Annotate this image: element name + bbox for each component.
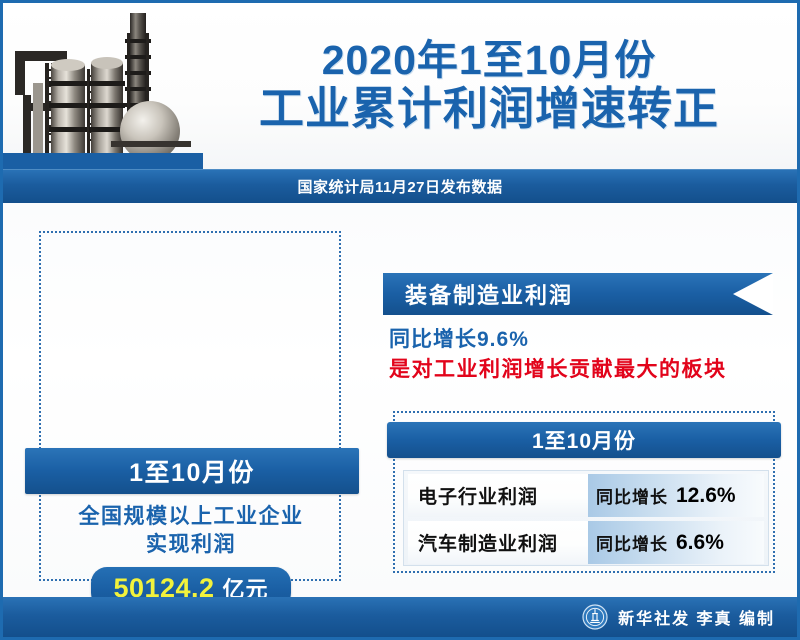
credit-text: 新华社发 李真 编制 — [618, 605, 775, 629]
industry-table-card: 1至10月份 电子行业利润 同比增长 12.6% 汽车制造业利润 — [393, 411, 775, 573]
xinhua-logo-icon — [582, 604, 608, 630]
table-cell-value: 同比增长 12.6% — [588, 474, 764, 517]
body-area: 1至10月份 全国规模以上工业企业 实现利润 50124.2 亿元 同比增长 0… — [3, 203, 797, 599]
infographic-poster: 2020年1至10月份 工业累计利润增速转正 国家统计局11月27日发布数据 1… — [0, 0, 800, 640]
title-line-1: 2020年1至10月份 — [199, 39, 779, 82]
table-cell-category: 汽车制造业利润 — [408, 521, 588, 564]
row-0-metric: 同比增长 — [596, 483, 668, 508]
page-title: 2020年1至10月份 工业累计利润增速转正 — [199, 39, 779, 133]
left-banner-label: 1至10月份 — [129, 453, 255, 489]
table-body: 电子行业利润 同比增长 12.6% 汽车制造业利润 同比增长 6.6% — [403, 470, 769, 566]
subtitle-bar: 国家统计局11月27日发布数据 — [3, 169, 797, 203]
table-row: 汽车制造业利润 同比增长 6.6% — [408, 521, 764, 564]
right-panel: 装备制造业利润 同比增长9.6% 是对工业利润增长贡献最大的板块 — [383, 273, 775, 384]
row-1-value: 6.6% — [676, 531, 724, 555]
table-cell-category: 电子行业利润 — [408, 474, 588, 517]
table-row: 电子行业利润 同比增长 12.6% — [408, 474, 764, 517]
equipment-emphasis-text: 是对工业利润增长贡献最大的板块 — [389, 356, 775, 383]
row-1-metric: 同比增长 — [596, 530, 668, 555]
table-header-banner: 1至10月份 — [387, 422, 781, 458]
table-cell-value: 同比增长 6.6% — [588, 521, 764, 564]
row-1-category: 汽车制造业利润 — [418, 529, 558, 556]
row-0-value: 12.6% — [676, 484, 736, 508]
refinery-illustration — [3, 3, 203, 169]
left-panel-banner: 1至10月份 — [25, 448, 359, 494]
equipment-growth-text: 同比增长9.6% — [389, 326, 775, 353]
title-line-2: 工业累计利润增速转正 — [199, 85, 779, 133]
equipment-ribbon: 装备制造业利润 — [383, 273, 773, 315]
subtitle-text: 国家统计局11月27日发布数据 — [297, 176, 502, 197]
ribbon-notch-icon — [733, 273, 773, 315]
table-header-label: 1至10月份 — [532, 425, 636, 455]
lead-line-2: 实现利润 — [43, 531, 339, 559]
row-0-category: 电子行业利润 — [418, 482, 538, 509]
right-panel-stats: 同比增长9.6% 是对工业利润增长贡献最大的板块 — [389, 326, 775, 384]
ribbon-label: 装备制造业利润 — [405, 278, 573, 310]
header: 2020年1至10月份 工业累计利润增速转正 — [3, 3, 797, 169]
lead-line-1: 全国规模以上工业企业 — [43, 503, 339, 531]
footer: 新华社发 李真 编制 — [3, 597, 797, 637]
